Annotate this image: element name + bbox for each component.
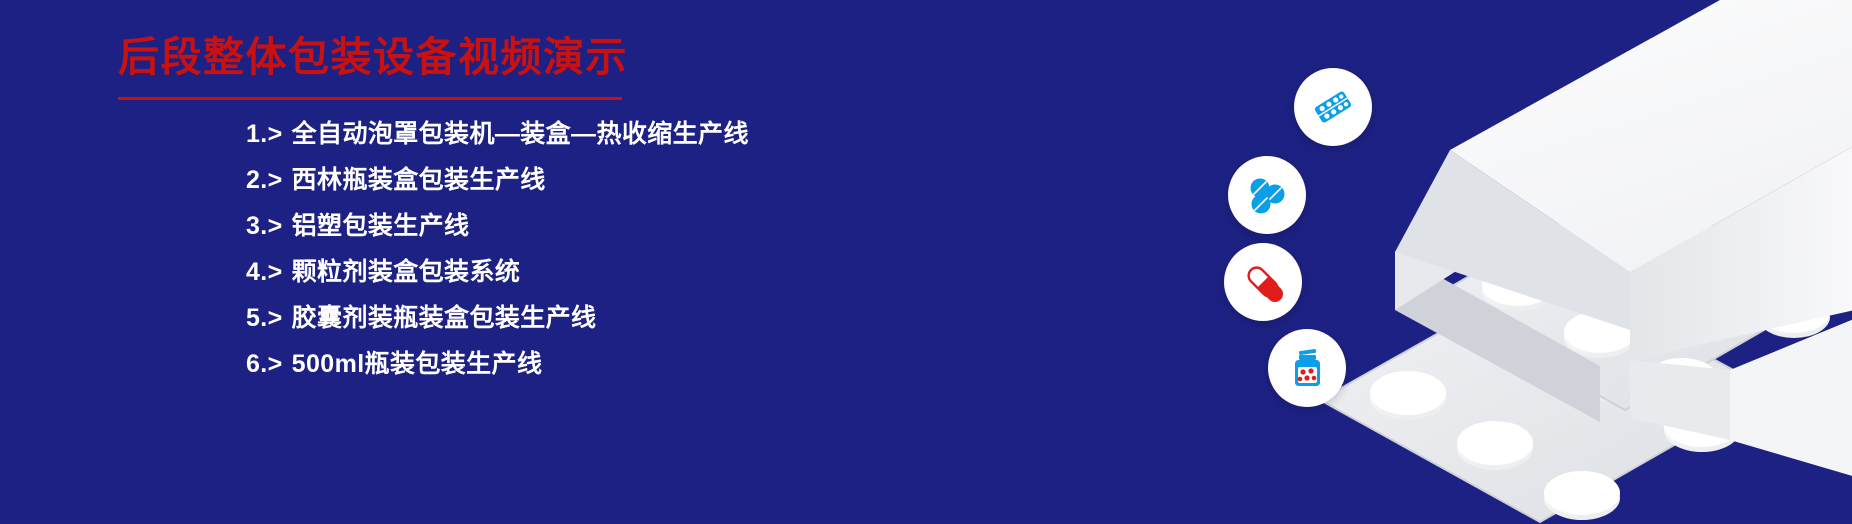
list-item-number: 4.> bbox=[246, 258, 283, 286]
tablets-badge[interactable] bbox=[1228, 156, 1306, 234]
list-item-number: 5.> bbox=[246, 304, 283, 332]
carton-box bbox=[1395, 0, 1852, 490]
page-title: 后段整体包装设备视频演示 bbox=[118, 34, 898, 81]
carton-svg bbox=[1300, 0, 1852, 524]
blister-tray-upper bbox=[1428, 183, 1830, 410]
list-item-label: 西林瓶装盒包装生产线 bbox=[292, 166, 546, 194]
tablets-icon bbox=[1244, 172, 1290, 218]
promo-banner: 后段整体包装设备视频演示 1.>全自动泡罩包装机—装盒—热收缩生产线 2.>西林… bbox=[0, 0, 1852, 524]
list-item-number: 2.> bbox=[246, 166, 283, 194]
list-item[interactable]: 3.>铝塑包装生产线 bbox=[246, 214, 898, 239]
list-item-label: 全自动泡罩包装机—装盒—热收缩生产线 bbox=[292, 120, 749, 148]
blister-pack-icon bbox=[1310, 84, 1356, 130]
title-underline bbox=[118, 97, 622, 100]
pill-group bbox=[1370, 371, 1620, 520]
pill-group bbox=[1490, 303, 1740, 452]
pill-group bbox=[1482, 264, 1718, 405]
list-item-label: 500ml瓶装包装生产线 bbox=[292, 350, 543, 378]
pill-group bbox=[1594, 197, 1830, 338]
text-block: 后段整体包装设备视频演示 1.>全自动泡罩包装机—装盒—热收缩生产线 2.>西林… bbox=[118, 34, 898, 398]
list-item-number: 6.> bbox=[246, 350, 283, 378]
medicine-bottle-icon bbox=[1284, 345, 1330, 391]
medicine-bottle-badge[interactable] bbox=[1268, 329, 1346, 407]
list-item[interactable]: 6.>500ml瓶装包装生产线 bbox=[246, 352, 898, 377]
list-item-number: 1.> bbox=[246, 120, 283, 148]
list-item-number: 3.> bbox=[246, 212, 283, 240]
capsule-badge[interactable] bbox=[1224, 243, 1302, 321]
list-item[interactable]: 2.>西林瓶装盒包装生产线 bbox=[246, 168, 898, 193]
list-item-label: 胶囊剂装瓶装盒包装生产线 bbox=[292, 304, 597, 332]
list-item[interactable]: 5.>胶囊剂装瓶装盒包装生产线 bbox=[246, 306, 898, 331]
equipment-list: 1.>全自动泡罩包装机—装盒—热收缩生产线 2.>西林瓶装盒包装生产线 3.>铝… bbox=[246, 122, 898, 377]
blister-tray-lower bbox=[1320, 270, 1770, 522]
list-item[interactable]: 4.>颗粒剂装盒包装系统 bbox=[246, 260, 898, 285]
blister-pack-badge[interactable] bbox=[1294, 68, 1372, 146]
carton-illustration bbox=[1300, 0, 1852, 524]
list-item-label: 颗粒剂装盒包装系统 bbox=[292, 258, 521, 286]
capsule-icon bbox=[1240, 259, 1286, 305]
list-item-label: 铝塑包装生产线 bbox=[292, 212, 470, 240]
list-item[interactable]: 1.>全自动泡罩包装机—装盒—热收缩生产线 bbox=[246, 122, 898, 147]
